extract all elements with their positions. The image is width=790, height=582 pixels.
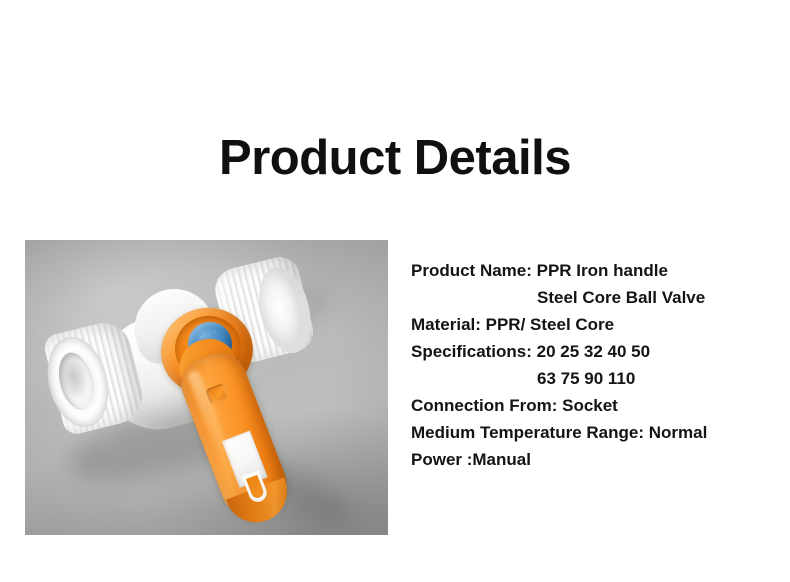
- product-image: [25, 240, 388, 535]
- page-title: Product Details: [0, 130, 790, 186]
- spec-line: 63 75 90 110: [411, 365, 783, 392]
- spec-line: Connection From: Socket: [411, 392, 783, 419]
- spec-line: Specifications: 20 25 32 40 50: [411, 338, 783, 365]
- photo-vignette: [25, 240, 388, 535]
- spec-line: Material: PPR/ Steel Core: [411, 311, 783, 338]
- spec-line: Medium Temperature Range: Normal: [411, 419, 783, 446]
- specification-list: Product Name: PPR Iron handleSteel Core …: [411, 257, 783, 473]
- spec-line: Steel Core Ball Valve: [411, 284, 783, 311]
- spec-line: Product Name: PPR Iron handle: [411, 257, 783, 284]
- spec-line: Power :Manual: [411, 446, 783, 473]
